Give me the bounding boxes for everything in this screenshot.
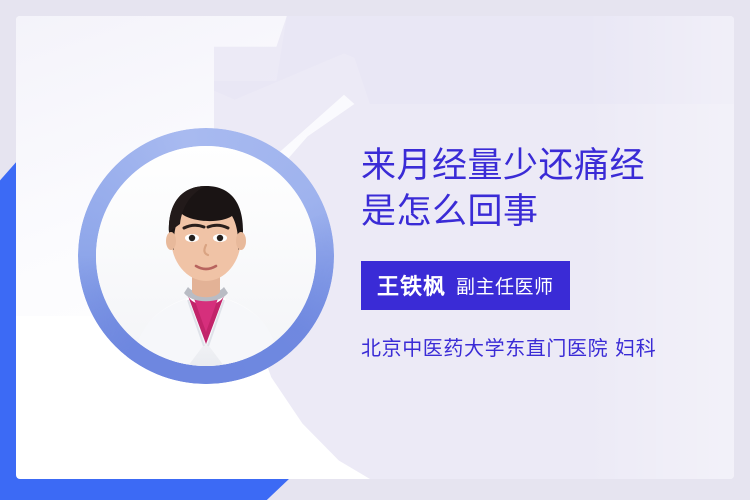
bottom-accent-bar xyxy=(0,478,290,500)
doctor-badge: 王铁枫 副主任医师 xyxy=(361,261,570,310)
page-title: 来月经量少还痛经 是怎么回事 xyxy=(361,144,721,235)
doctor-name: 王铁枫 xyxy=(377,269,446,301)
text-column: 来月经量少还痛经 是怎么回事 王铁枫 副主任医师 北京中医药大学东直门医院 妇科 xyxy=(361,144,721,361)
content-card: 来月经量少还痛经 是怎么回事 王铁枫 副主任医师 北京中医药大学东直门医院 妇科 xyxy=(16,16,734,479)
doctor-rank: 副主任医师 xyxy=(456,272,554,299)
doctor-photo xyxy=(96,146,316,366)
doctor-portrait xyxy=(78,128,334,384)
doctor-affiliation: 北京中医药大学东直门医院 妇科 xyxy=(361,332,721,361)
poster-canvas: 来月经量少还痛经 是怎么回事 王铁枫 副主任医师 北京中医药大学东直门医院 妇科 xyxy=(0,0,750,500)
